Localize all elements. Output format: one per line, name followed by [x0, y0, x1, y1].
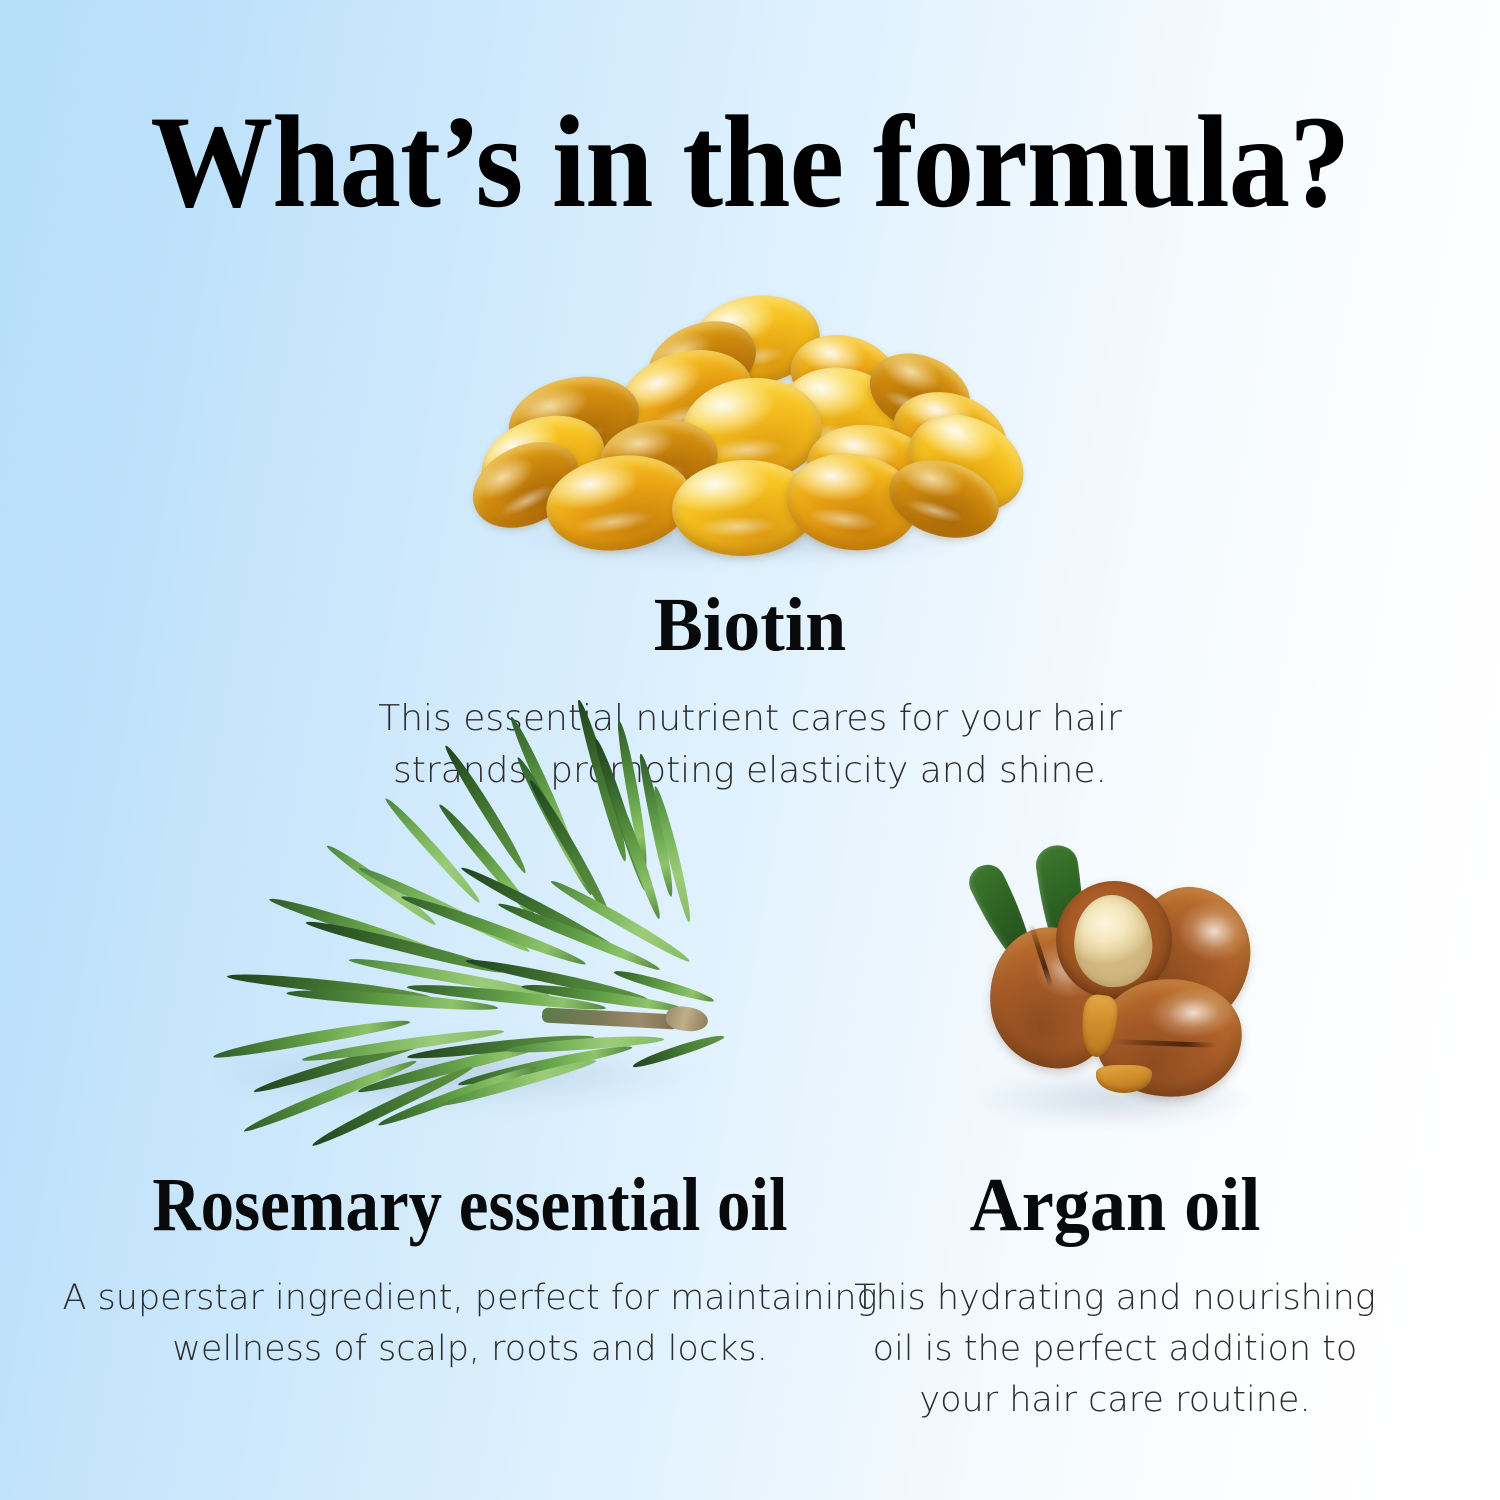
page-title: What’s in the formula?: [53, 96, 1448, 228]
ingredient-name-biotin: Biotin: [323, 587, 1177, 663]
ingredient-description-rosemary: A superstar ingredient, perfect for main…: [55, 1273, 885, 1375]
rosemary-image-area: [55, 845, 885, 1145]
ingredient-description-argan: This hydrating and nourishing oil is the…: [830, 1273, 1400, 1425]
ingredients-infographic: What’s in the formula?: [0, 0, 1500, 1500]
argan-nuts-icon: [950, 845, 1280, 1135]
ingredient-card-rosemary: Rosemary essential oil A superstar ingre…: [55, 845, 885, 1375]
ingredient-card-biotin: Biotin This essential nutrient cares for…: [310, 290, 1190, 797]
argan-image-area: [830, 845, 1400, 1145]
biotin-softgel-capsules-icon: [460, 290, 1040, 560]
ingredient-card-argan: Argan oil This hydrating and nourishing …: [830, 845, 1400, 1425]
ingredient-name-argan: Argan oil: [844, 1167, 1386, 1243]
ingredient-description-biotin: This essential nutrient cares for your h…: [310, 693, 1190, 797]
biotin-image-area: [310, 290, 1190, 575]
rosemary-sprig-icon: [190, 845, 750, 1135]
ingredient-name-rosemary: Rosemary essential oil: [105, 1167, 835, 1243]
